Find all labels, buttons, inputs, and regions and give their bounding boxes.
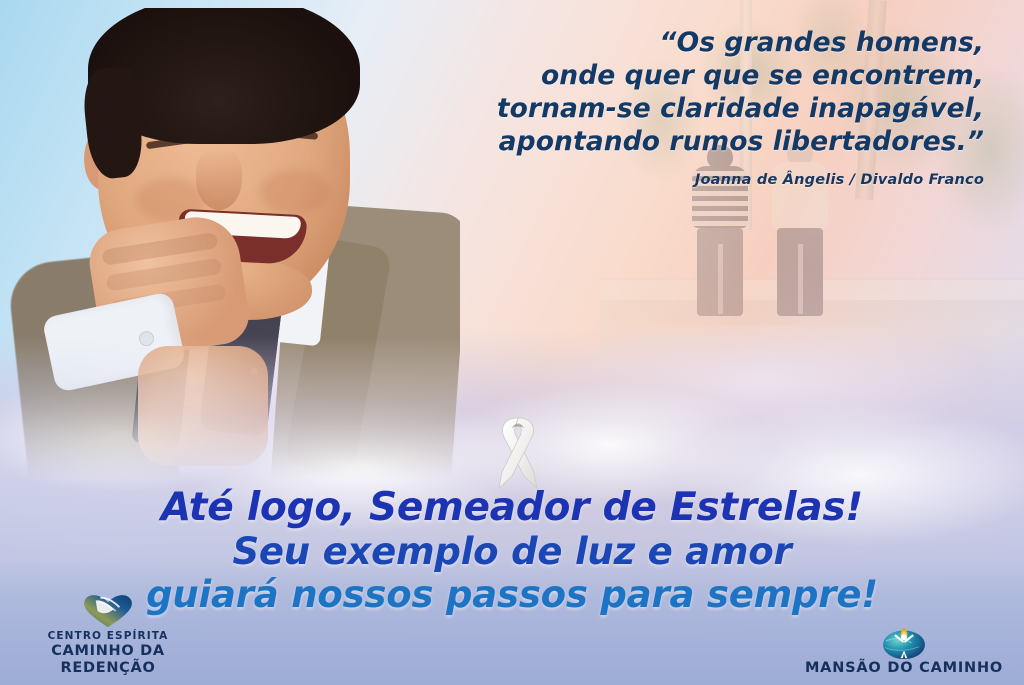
- quote-line-4: apontando rumos libertadores.”: [364, 125, 984, 158]
- quote-attribution: Joanna de Ângelis / Divaldo Franco: [364, 172, 984, 188]
- portrait-nose: [196, 148, 242, 210]
- memorial-poster: “Os grandes homens, onde quer que se enc…: [0, 0, 1024, 685]
- quote-line-3: tornam-se claridade inapagável,: [364, 92, 984, 125]
- headline-line-2: Seu exemplo de luz e amor: [0, 530, 1024, 573]
- quote-block: “Os grandes homens, onde quer que se enc…: [364, 26, 984, 188]
- logo-right-line-1: MANSÃO DO CAMINHO: [796, 660, 1012, 677]
- logo-left-line-2: CAMINHO DA REDENÇÃO: [10, 643, 206, 677]
- white-awareness-ribbon-icon: [482, 406, 554, 492]
- headline-line-1: Até logo, Semeador de Estrelas!: [0, 486, 1024, 530]
- quote-line-2: onde quer que se encontrem,: [364, 59, 984, 92]
- heart-hands-icon: [10, 590, 206, 630]
- quote-line-1: “Os grandes homens,: [364, 26, 984, 59]
- portrait-cheek-right: [260, 170, 330, 214]
- logo-mansao-do-caminho: MANSÃO DO CAMINHO: [796, 620, 1012, 677]
- portrait-hand-mic: [138, 346, 268, 466]
- logo-left-line-1: CENTRO ESPÍRITA: [10, 630, 206, 643]
- globe-figure-flame-icon: [796, 620, 1012, 660]
- logo-centro-espirita: CENTRO ESPÍRITA CAMINHO DA REDENÇÃO: [10, 590, 206, 677]
